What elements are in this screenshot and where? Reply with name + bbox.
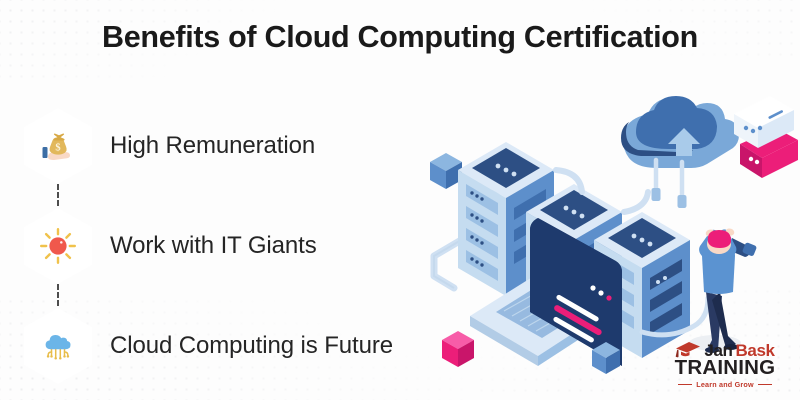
list-item: Cloud Computing is Future	[24, 296, 454, 396]
logo-tagline-text: Learn and Grow	[696, 381, 754, 388]
benefit-label: Work with IT Giants	[110, 232, 317, 260]
benefit-label: Cloud Computing is Future	[110, 332, 393, 360]
page-title: Benefits of Cloud Computing Certificatio…	[0, 20, 800, 55]
list-item: Work with IT Giants	[24, 196, 454, 296]
hexagon-badge-cloud	[24, 308, 92, 384]
cube-blue-small	[430, 153, 462, 189]
list-item: $ High Remuneration	[24, 96, 454, 196]
tagline-rule-right	[758, 384, 772, 385]
cloud-network-icon	[38, 326, 78, 366]
money-bag-in-hand-icon: $	[38, 126, 78, 166]
hexagon-badge-remuneration: $	[24, 108, 92, 184]
infographic-canvas: Benefits of Cloud Computing Certificatio…	[0, 0, 800, 400]
svg-text:$: $	[55, 143, 60, 154]
cube-pink-small	[442, 331, 474, 367]
hexagon-badge-it-giants	[24, 208, 92, 284]
benefits-list: $ High Remuneration	[24, 96, 454, 396]
logo-tagline-row: Learn and Grow	[666, 381, 784, 388]
sun-icon	[38, 226, 78, 266]
logo-training-text: TRAINING	[666, 358, 784, 379]
benefit-label: High Remuneration	[110, 132, 315, 160]
janbask-training-logo: JanBask TRAINING Learn and Grow	[666, 341, 784, 388]
tagline-rule-left	[678, 384, 692, 385]
cloud-upload	[621, 96, 739, 168]
